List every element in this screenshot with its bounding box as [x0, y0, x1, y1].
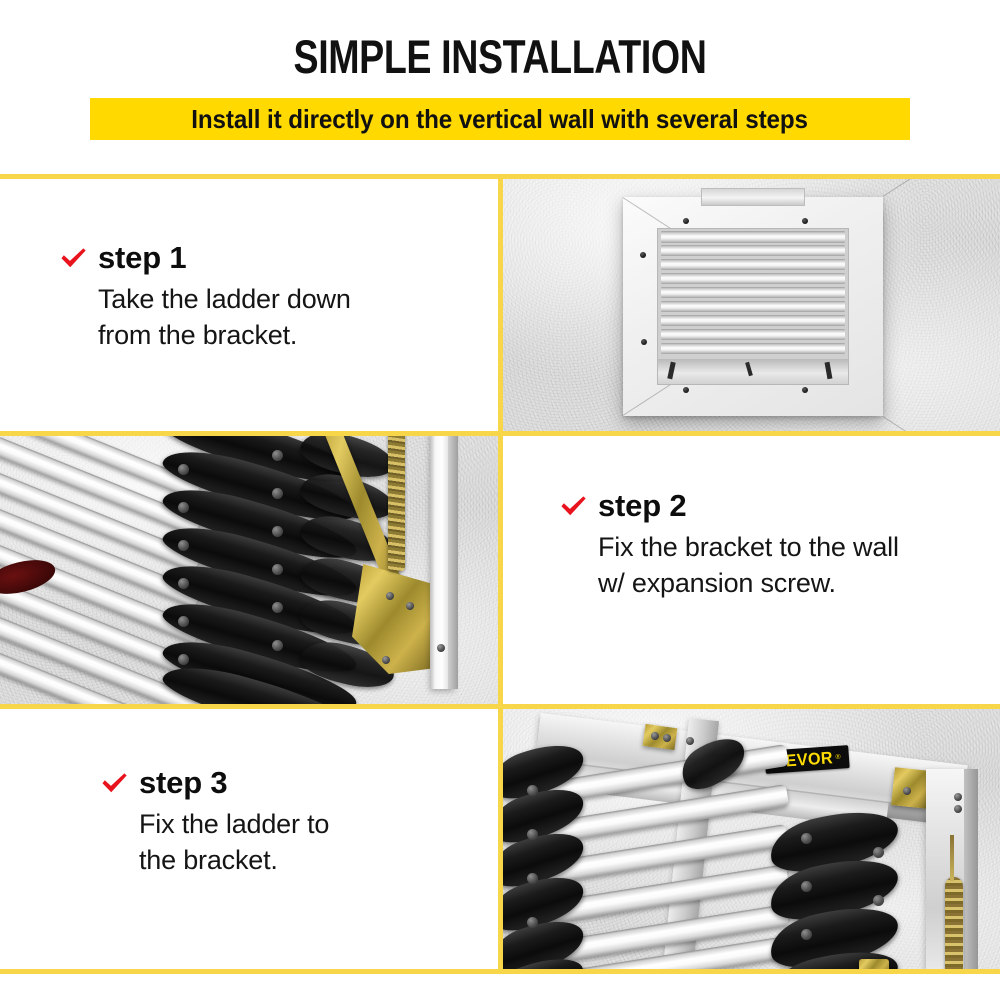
step-2-heading: step 2 — [560, 490, 990, 521]
trademark-icon: ® — [835, 754, 841, 761]
hinge-bracket-right — [891, 767, 931, 809]
step-2-label: step 2 — [598, 490, 686, 521]
photo-2-image — [0, 434, 500, 704]
divider-vertical-row3 — [498, 704, 503, 974]
step-1-label: step 1 — [98, 242, 186, 273]
return-spring — [945, 877, 963, 974]
photo-3-image: VEVOR ® — [501, 707, 1000, 974]
photo-rungs-bracket-closeup — [0, 434, 500, 704]
step-2-description-line-2: w/ expansion screw. — [598, 566, 990, 602]
step-1-text-cell: step 1 Take the ladder down from the bra… — [0, 174, 500, 431]
subtitle-banner: Install it directly on the vertical wall… — [90, 98, 910, 140]
divider-vertical-row1 — [498, 174, 503, 436]
step-3-label: step 3 — [139, 767, 227, 798]
step-2-description: Fix the bracket to the wall w/ expansion… — [598, 530, 990, 602]
check-icon — [560, 494, 587, 518]
step-3-description-line-1: Fix the ladder to — [139, 807, 491, 843]
check-icon — [101, 771, 128, 795]
hinge-bracket-left — [643, 724, 678, 750]
photo-closed-ladder-on-wall — [501, 174, 1000, 431]
step-3-block: step 3 Fix the ladder to the bracket. — [101, 767, 491, 879]
housing-top-bracket — [701, 188, 805, 205]
step-3-description: Fix the ladder to the bracket. — [139, 807, 491, 879]
photo-ladder-on-bracket: VEVOR ® — [501, 707, 1000, 974]
step-1-description-line-2: from the bracket. — [98, 318, 480, 354]
step-1-description: Take the ladder down from the bracket. — [98, 282, 480, 354]
check-icon — [60, 246, 87, 270]
header: SIMPLE INSTALLATION Install it directly … — [0, 0, 1000, 174]
step-3-description-line-2: the bracket. — [139, 843, 491, 879]
step-1-description-line-1: Take the ladder down — [98, 282, 480, 318]
ladder-housing-frame — [623, 197, 882, 415]
steps-grid: step 1 Take the ladder down from the bra… — [0, 174, 1000, 974]
step-1-block: step 1 Take the ladder down from the bra… — [60, 242, 480, 354]
tension-spring — [388, 434, 405, 571]
step-3-heading: step 3 — [101, 767, 491, 798]
step-2-block: step 2 Fix the bracket to the wall w/ ex… — [560, 490, 990, 602]
subtitle-text: Install it directly on the vertical wall… — [192, 104, 809, 135]
folded-rungs-stack — [657, 228, 849, 385]
divider-vertical-row2 — [498, 431, 503, 709]
step-2-text-cell: step 2 Fix the bracket to the wall w/ ex… — [501, 434, 1000, 704]
step-3-text-cell: step 3 Fix the ladder to the bracket. — [0, 707, 500, 974]
step-2-description-line-1: Fix the bracket to the wall — [598, 530, 990, 566]
page-title: SIMPLE INSTALLATION — [100, 33, 900, 80]
rungs-assembly — [0, 434, 500, 704]
step-1-heading: step 1 — [60, 242, 480, 273]
photo-1-image — [501, 174, 1000, 431]
